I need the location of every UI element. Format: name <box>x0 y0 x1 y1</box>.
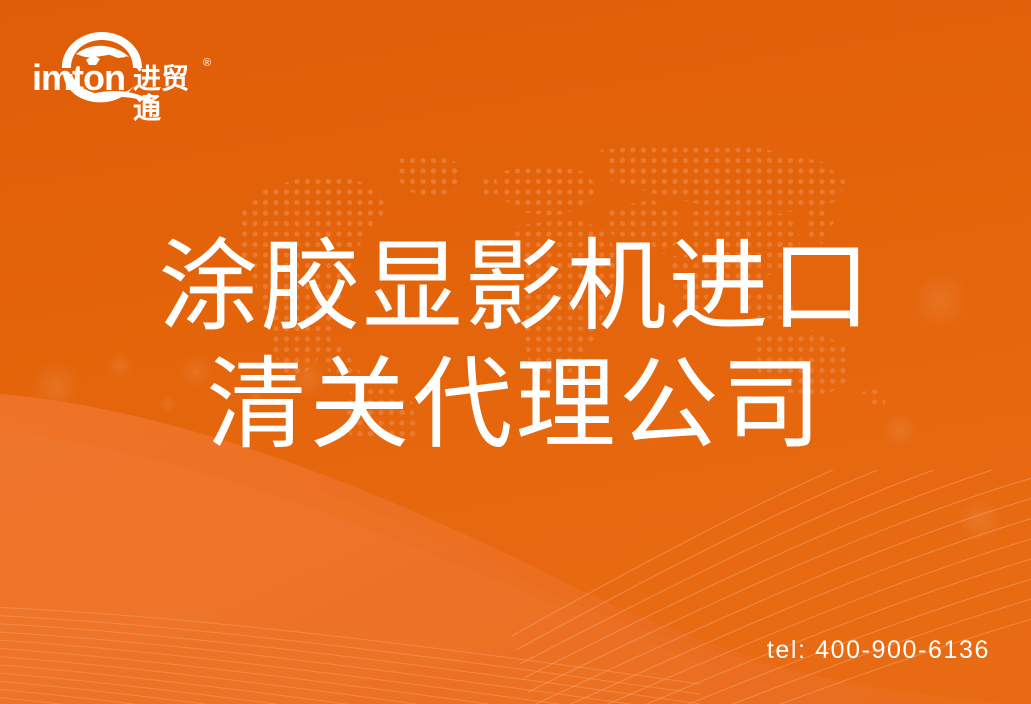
logo-chinese-name: 进贸通 <box>133 64 210 124</box>
contact-phone[interactable]: tel: 400-900-6136 <box>767 636 990 665</box>
logo-trademark-icon: ® <box>203 58 211 69</box>
title-line-2: 清关代理公司 <box>0 346 1031 464</box>
title-line-1: 涂胶显影机进口 <box>0 228 1031 346</box>
page-title: 涂胶显影机进口 清关代理公司 <box>0 228 1031 464</box>
promo-banner: imton 进贸通 ® 涂胶显影机进口 清关代理公司 tel: 400-900-… <box>0 0 1031 704</box>
brand-logo[interactable]: imton 进贸通 ® <box>30 24 210 108</box>
logo-wordmark: imton <box>32 60 125 96</box>
